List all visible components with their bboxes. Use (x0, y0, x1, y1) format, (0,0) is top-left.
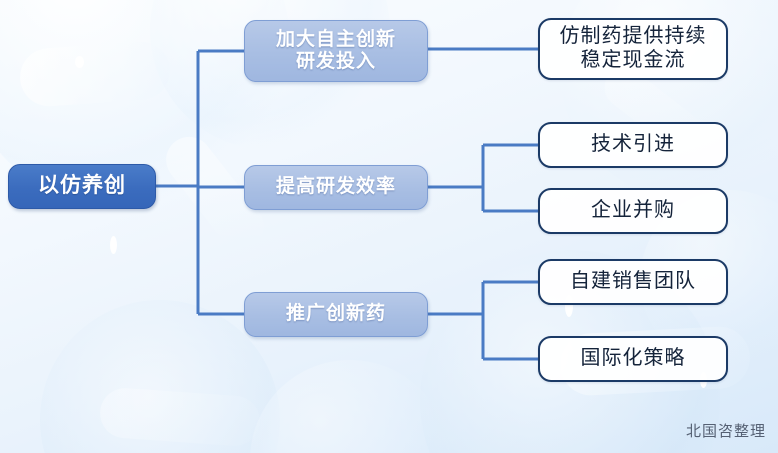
node-leaf-1-1-label: 仿制药提供持续 稳定现金流 (560, 25, 707, 72)
node-branch-3[interactable]: 推广创新药 (244, 292, 428, 337)
node-branch-1[interactable]: 加大自主创新 研发投入 (244, 20, 428, 82)
node-leaf-2-1-label: 技术引进 (591, 133, 675, 157)
node-leaf-3-2[interactable]: 国际化策略 (538, 336, 728, 382)
watermark: 北国咨整理 (686, 420, 766, 441)
node-leaf-3-2-label: 国际化策略 (581, 347, 686, 371)
node-leaf-1-1-label-line2: 稳定现金流 (560, 49, 707, 73)
node-leaf-3-1-label: 自建销售团队 (570, 270, 696, 294)
node-branch-1-label-line2: 研发投入 (276, 51, 396, 73)
node-root[interactable]: 以仿养创 (8, 164, 156, 209)
node-leaf-2-2-label: 企业并购 (591, 199, 675, 223)
diagram-canvas: 以仿养创 加大自主创新 研发投入 提高研发效率 推广创新药 仿制药提供持续 稳定… (0, 0, 778, 453)
node-leaf-2-1[interactable]: 技术引进 (538, 122, 728, 168)
node-leaf-3-1[interactable]: 自建销售团队 (538, 259, 728, 305)
node-leaf-1-1-label-line1: 仿制药提供持续 (560, 25, 707, 47)
node-root-label: 以仿养创 (38, 174, 126, 199)
node-branch-2-label: 提高研发效率 (276, 176, 396, 198)
node-leaf-2-2[interactable]: 企业并购 (538, 188, 728, 234)
node-branch-1-label-line1: 加大自主创新 (276, 29, 396, 50)
node-branch-2[interactable]: 提高研发效率 (244, 165, 428, 210)
node-branch-1-label: 加大自主创新 研发投入 (276, 29, 396, 74)
node-branch-3-label: 推广创新药 (286, 303, 386, 325)
node-leaf-1-1[interactable]: 仿制药提供持续 稳定现金流 (538, 18, 728, 80)
